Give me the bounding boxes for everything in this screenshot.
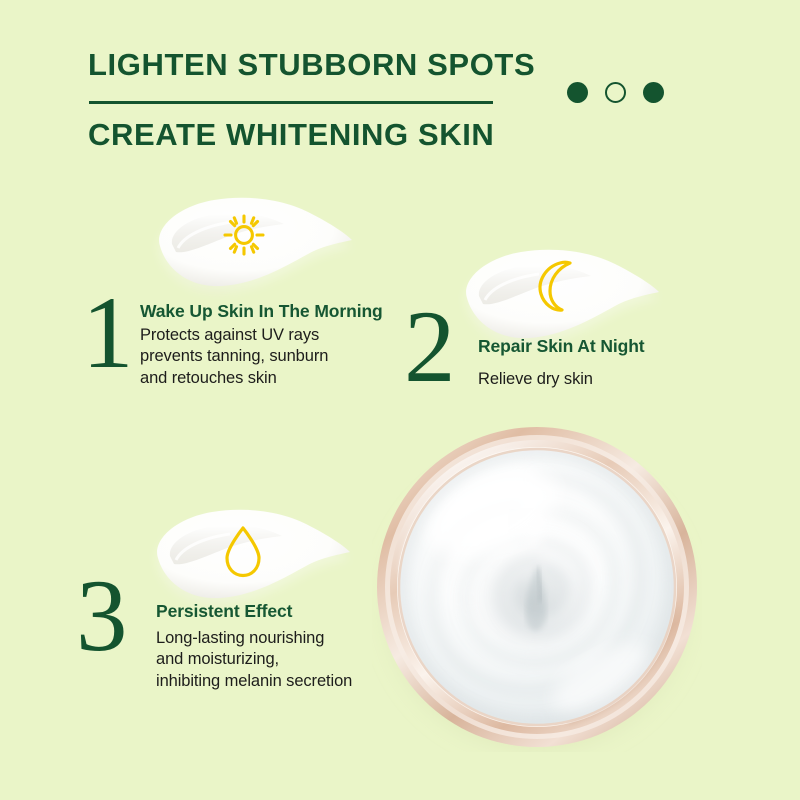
cream-jar-top-view — [372, 422, 702, 752]
step-body-1-line-1: Protects against UV rays — [140, 325, 400, 346]
step-body-1: Protects against UV rays prevents tannin… — [140, 325, 400, 389]
step-heading-2: Repair Skin At Night — [478, 336, 645, 357]
step-body-2: Relieve dry skin — [478, 369, 728, 390]
cream-swatch-1 — [148, 188, 354, 300]
step-heading-3: Persistent Effect — [156, 601, 292, 622]
pagination-dot-1[interactable] — [567, 82, 588, 103]
pagination-dot-3[interactable] — [643, 82, 664, 103]
cream-swatch-3 — [146, 500, 352, 612]
headline-primary: LIGHTEN STUBBORN SPOTS — [88, 47, 535, 83]
step-number-1: 1 — [82, 282, 134, 385]
step-body-2-line-1: Relieve dry skin — [478, 369, 728, 390]
step-body-1-line-2: prevents tanning, sunburn — [140, 346, 400, 367]
step-heading-1: Wake Up Skin In The Morning — [140, 301, 383, 322]
headline-secondary: CREATE WHITENING SKIN — [88, 117, 494, 153]
pagination-dot-2[interactable] — [605, 82, 626, 103]
step-body-1-line-3: and retouches skin — [140, 368, 400, 389]
pagination-dots — [567, 82, 664, 103]
step-number-3: 3 — [76, 565, 128, 668]
promo-banner: LIGHTEN STUBBORN SPOTS CREATE WHITENING … — [0, 0, 800, 800]
step-number-2: 2 — [404, 296, 456, 399]
headline-divider — [89, 101, 493, 104]
